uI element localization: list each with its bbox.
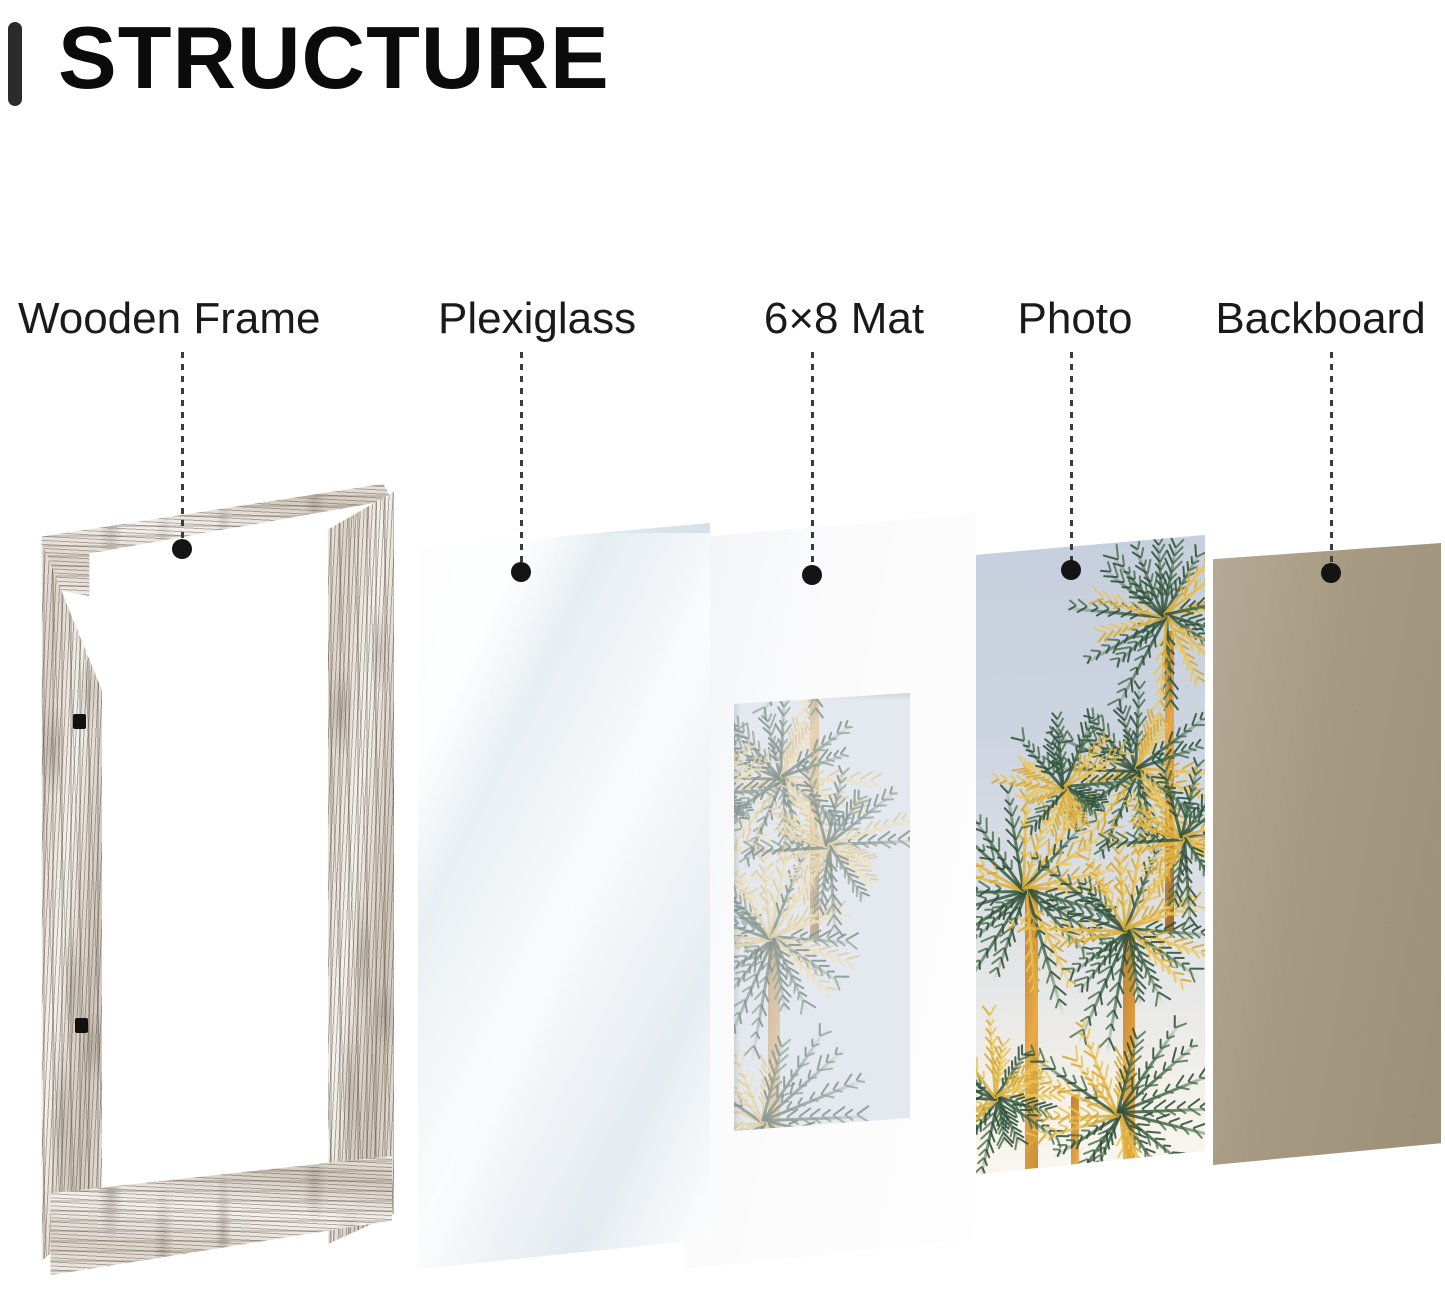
callout-dot-backboard (1321, 563, 1341, 583)
label-wooden-frame: Wooden Frame (18, 295, 320, 343)
label-plexiglass: Plexiglass (438, 295, 630, 343)
leader-line-mat (811, 352, 814, 575)
layer-photo (969, 535, 1205, 1175)
mat-window-cutout (734, 693, 910, 1131)
label-photo: Photo (1017, 295, 1133, 343)
layer-backboard (1213, 543, 1441, 1165)
leader-line-plexiglass (520, 352, 523, 572)
plexiglass-top-edge (418, 523, 710, 533)
frame-rail-right (328, 484, 394, 1244)
leader-line-photo (1070, 352, 1073, 570)
callout-dot-plexiglass (511, 562, 531, 582)
layer-mat (684, 513, 976, 1269)
title-text: STRUCTURE (58, 8, 610, 108)
leader-line-wooden-frame (181, 352, 184, 548)
diagram-canvas: STRUCTURE Wooden Frame Plexiglass 6×8 Ma… (0, 0, 1445, 1290)
label-backboard: Backboard (1210, 295, 1431, 343)
backboard-shading (1213, 543, 1441, 1165)
leader-line-backboard (1330, 352, 1333, 573)
layer-wooden-frame (40, 484, 392, 1280)
title-accent-bar (8, 22, 22, 106)
mat-window-seethrough (734, 693, 910, 1131)
frame-clip-upper (73, 714, 86, 729)
frame-clip-lower (75, 1018, 88, 1033)
layer-plexiglass (418, 523, 710, 1269)
callout-dot-mat (802, 565, 822, 585)
callout-dot-photo (1061, 560, 1081, 580)
frame-rail-left (40, 528, 102, 1268)
label-mat: 6×8 Mat (760, 295, 928, 343)
plexiglass-reflection (418, 523, 710, 1269)
callout-dot-wooden-frame (172, 539, 192, 559)
